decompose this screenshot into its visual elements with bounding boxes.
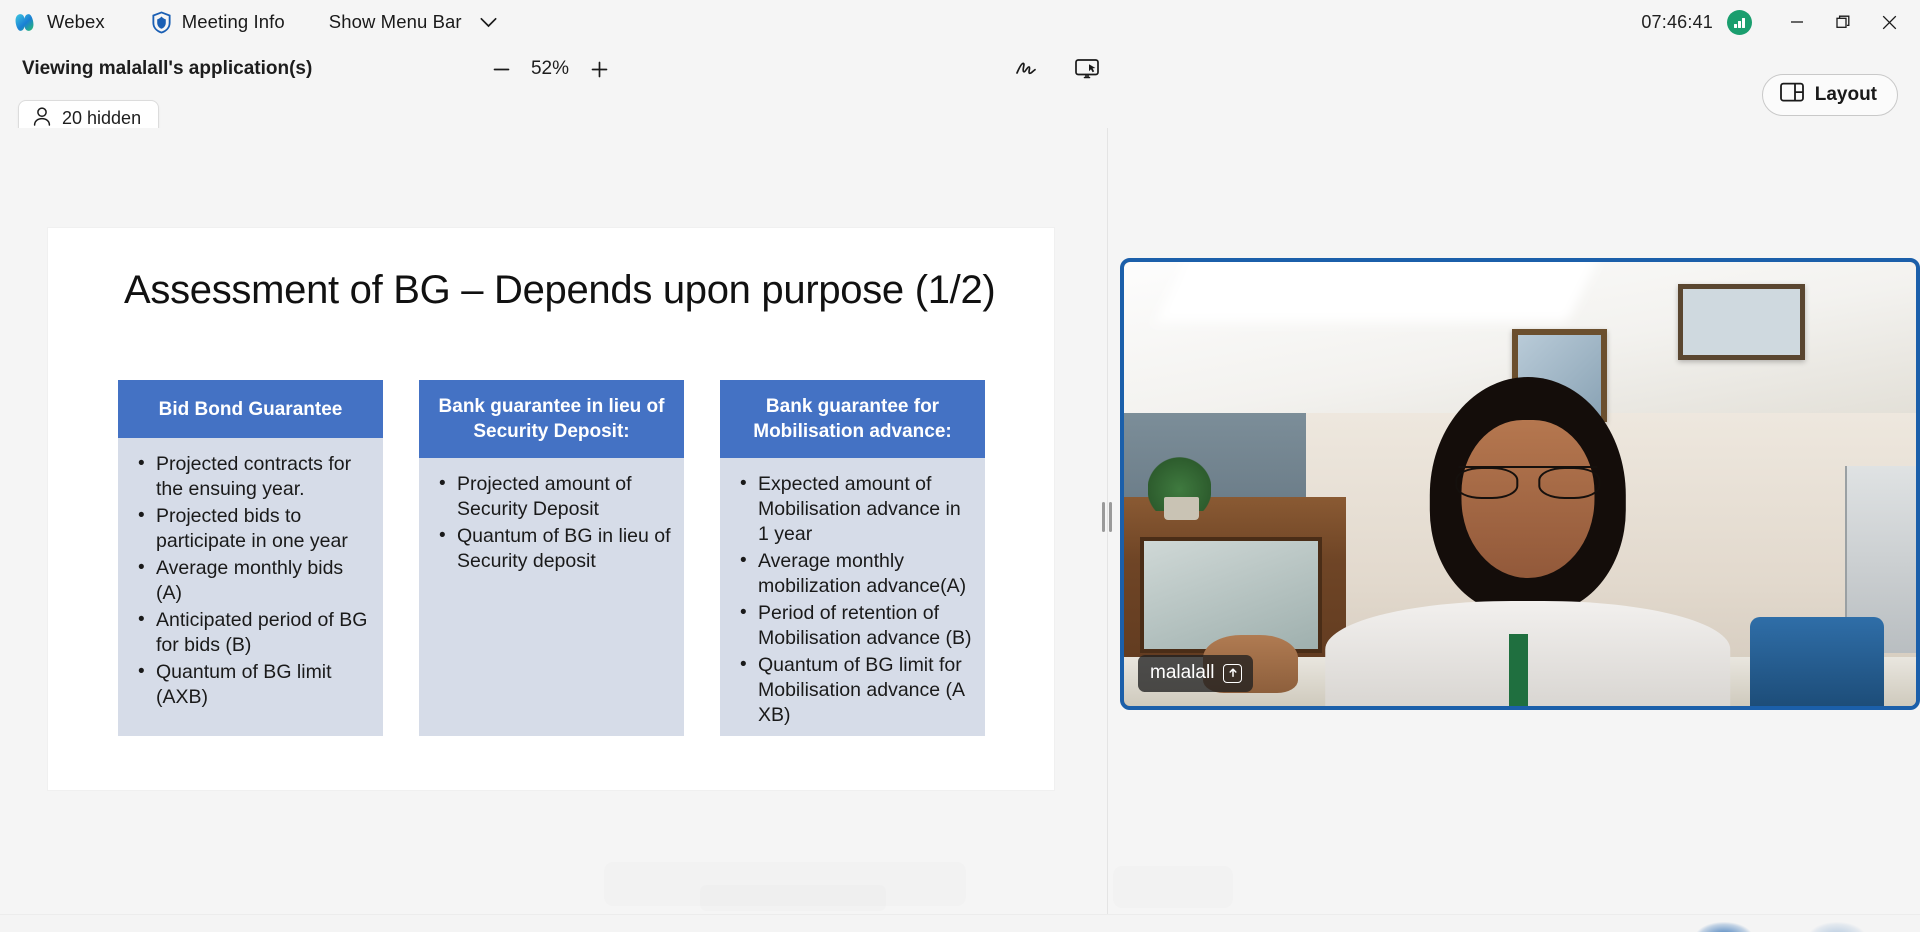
video-name-pill: malalall bbox=[1138, 655, 1253, 692]
bottom-edge-strip bbox=[0, 914, 1920, 932]
webex-app-button[interactable]: Webex bbox=[0, 0, 115, 44]
video-feed bbox=[1124, 262, 1916, 706]
zoom-in-button[interactable] bbox=[582, 52, 616, 86]
viewing-status-label: Viewing malalall's application(s) bbox=[22, 58, 312, 80]
slide-title: Assessment of BG – Depends upon purpose … bbox=[124, 268, 1024, 313]
drag-handle-icon bbox=[1109, 502, 1112, 532]
meeting-info-button[interactable]: Meeting Info bbox=[141, 0, 295, 44]
show-menu-bar-button[interactable]: Show Menu Bar bbox=[319, 0, 507, 44]
video-person-face bbox=[1461, 420, 1594, 578]
shared-content-stage[interactable]: Assessment of BG – Depends upon purpose … bbox=[0, 128, 1108, 914]
video-person bbox=[1370, 377, 1687, 706]
meeting-timer: 07:46:41 bbox=[1641, 12, 1727, 33]
title-bar-right: 07:46:41 bbox=[1641, 0, 1920, 44]
layout-grid-icon bbox=[1780, 82, 1804, 108]
list-item: Quantum of BG limit (AXB) bbox=[138, 660, 371, 710]
list-item: Average monthly mobilization advance(A) bbox=[740, 549, 973, 599]
slide-card-mobilisation-advance: Bank guarantee for Mobilisation advance:… bbox=[720, 380, 985, 736]
shield-icon bbox=[151, 11, 172, 34]
video-person-lanyard bbox=[1509, 634, 1528, 706]
network-signal-icon[interactable] bbox=[1727, 10, 1752, 35]
chevron-down-icon bbox=[472, 17, 497, 28]
screen-cursor-icon[interactable] bbox=[1070, 52, 1104, 86]
video-background-picture-frame bbox=[1678, 284, 1805, 359]
video-person-glasses bbox=[1458, 466, 1597, 496]
zoom-controls: 52% bbox=[484, 52, 616, 86]
zoom-level-value: 52% bbox=[522, 58, 578, 80]
list-item: Projected contracts for the ensuing year… bbox=[138, 452, 371, 502]
list-item: Projected bids to participate in one yea… bbox=[138, 504, 371, 554]
list-item: Period of retention of Mobilisation adva… bbox=[740, 601, 973, 651]
close-button[interactable] bbox=[1866, 0, 1912, 44]
restore-window-button[interactable] bbox=[1820, 0, 1866, 44]
slide-columns: Bid Bond Guarantee Projected contracts f… bbox=[118, 380, 985, 736]
slide-card-bid-bond: Bid Bond Guarantee Projected contracts f… bbox=[118, 380, 383, 736]
meeting-info-label: Meeting Info bbox=[182, 11, 285, 33]
slide-card-security-deposit: Bank guarantee in lieu of Security Depos… bbox=[419, 380, 684, 736]
title-bar: Webex Meeting Info Show Menu Bar 07:46:4… bbox=[0, 0, 1920, 44]
webex-meeting-window: Webex Meeting Info Show Menu Bar 07:46:4… bbox=[0, 0, 1920, 932]
person-icon bbox=[33, 107, 51, 131]
drag-handle-icon bbox=[1102, 502, 1105, 532]
panel-splitter-handle[interactable] bbox=[1100, 500, 1114, 534]
layout-button[interactable]: Layout bbox=[1762, 74, 1898, 116]
webex-logo-icon bbox=[12, 10, 37, 35]
share-tool-buttons bbox=[1010, 52, 1104, 86]
annotate-pen-icon[interactable] bbox=[1010, 52, 1044, 86]
video-background-plant-pot bbox=[1164, 497, 1200, 519]
presentation-slide: Assessment of BG – Depends upon purpose … bbox=[48, 228, 1054, 790]
share-toolbar: Viewing malalall's application(s) 52% bbox=[0, 44, 1920, 94]
list-item: Average monthly bids (A) bbox=[138, 556, 371, 606]
list-item: Expected amount of Mobilisation advance … bbox=[740, 472, 973, 547]
video-participant-name: malalall bbox=[1150, 662, 1214, 684]
ghost-control-bar-inner bbox=[700, 885, 886, 911]
layout-button-label: Layout bbox=[1815, 84, 1877, 106]
bottom-accent-hint bbox=[1695, 922, 1753, 932]
card-heading: Bank guarantee in lieu of Security Depos… bbox=[419, 380, 684, 458]
list-item: Quantum of BG limit for Mobilisation adv… bbox=[740, 653, 973, 728]
hidden-participants-label: 20 hidden bbox=[62, 108, 141, 129]
bottom-accent-hint bbox=[1808, 922, 1866, 932]
card-bullet-list: Projected amount of Security Deposit Qua… bbox=[419, 458, 684, 588]
list-item: Projected amount of Security Deposit bbox=[439, 472, 672, 522]
card-heading: Bid Bond Guarantee bbox=[118, 380, 383, 438]
video-tile-malalall[interactable]: malalall bbox=[1120, 258, 1920, 710]
ghost-control-bar-right bbox=[1113, 866, 1233, 908]
card-bullet-list: Projected contracts for the ensuing year… bbox=[118, 438, 383, 724]
list-item: Quantum of BG in lieu of Security deposi… bbox=[439, 524, 672, 574]
zoom-out-button[interactable] bbox=[484, 52, 518, 86]
share-screen-icon bbox=[1223, 664, 1242, 683]
video-person-shoulders bbox=[1325, 601, 1731, 706]
card-bullet-list: Expected amount of Mobilisation advance … bbox=[720, 458, 985, 742]
show-menu-bar-label: Show Menu Bar bbox=[329, 11, 462, 33]
card-heading: Bank guarantee for Mobilisation advance: bbox=[720, 380, 985, 458]
video-background-chair bbox=[1750, 617, 1885, 706]
webex-app-label: Webex bbox=[47, 11, 105, 33]
minimize-button[interactable] bbox=[1774, 0, 1820, 44]
list-item: Anticipated period of BG for bids (B) bbox=[138, 608, 371, 658]
